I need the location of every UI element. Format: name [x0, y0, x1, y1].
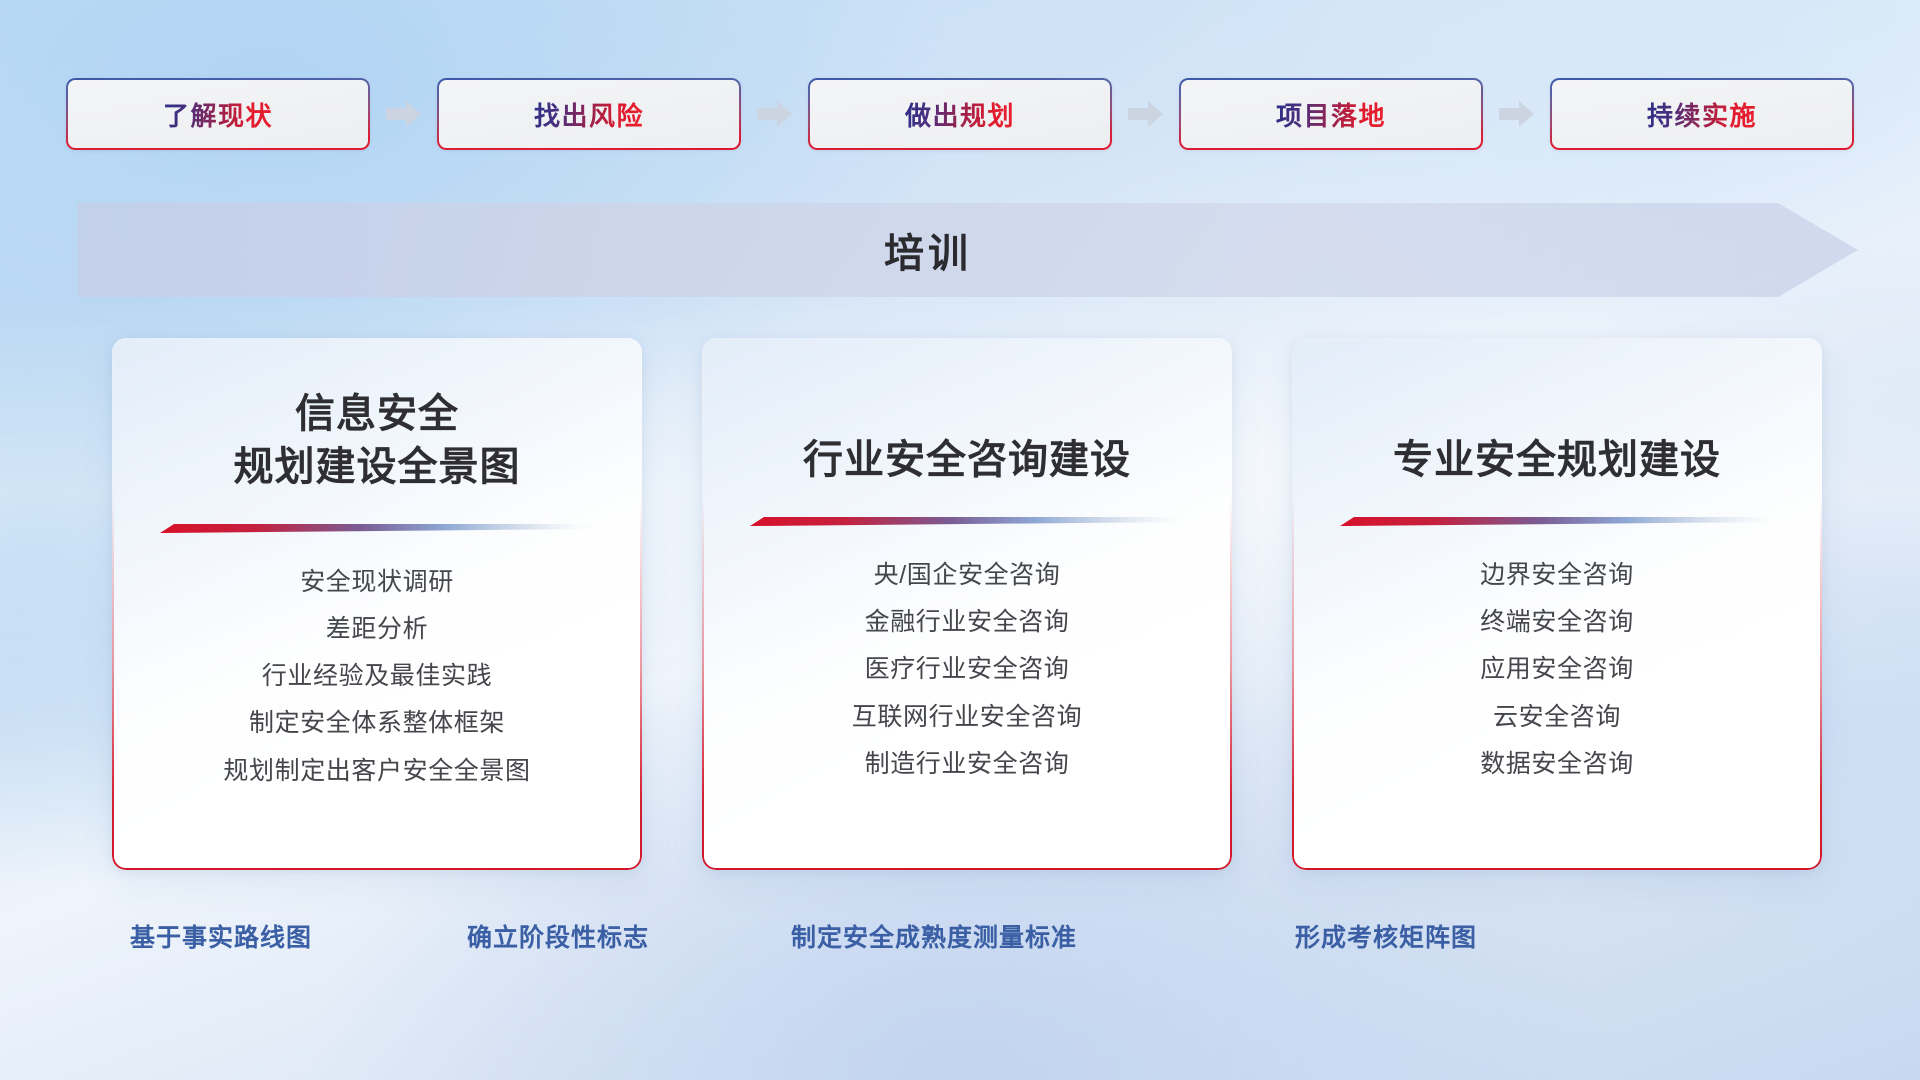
card-title: 行业安全咨询建设: [803, 434, 1131, 487]
list-item: 行业经验及最佳实践: [262, 661, 492, 692]
arrow-right-icon: [386, 99, 422, 129]
list-item: 终端安全咨询: [1480, 607, 1634, 638]
list-item: 医疗行业安全咨询: [865, 654, 1070, 685]
arrow-right-icon: [1499, 99, 1535, 129]
list-item: 安全现状调研: [300, 567, 454, 598]
step-label: 项目落地: [1276, 96, 1386, 133]
caption-maturity: 制定安全成熟度测量标准: [791, 918, 1077, 954]
step-label: 做出规划: [905, 96, 1015, 133]
card-information-security-blueprint[interactable]: 信息安全 规划建设全景图: [112, 338, 642, 870]
list-item: 应用安全咨询: [1480, 654, 1634, 685]
gradient-underline-icon: [1340, 515, 1774, 526]
step-box-2[interactable]: 找出风险: [437, 78, 741, 150]
step-box-4[interactable]: 项目落地: [1179, 78, 1483, 150]
gradient-underline-icon: [750, 515, 1184, 526]
list-item: 云安全咨询: [1493, 702, 1621, 733]
arrow-right-icon: [757, 99, 793, 129]
list-item: 规划制定出客户安全全景图: [223, 756, 530, 787]
arrow-right-icon: [1128, 99, 1164, 129]
step-box-1[interactable]: 了解现状: [66, 78, 370, 150]
card-item-list: 边界安全咨询 终端安全咨询 应用安全咨询 云安全咨询 数据安全咨询: [1318, 560, 1796, 780]
process-steps: 了解现状 找出风险 做出规划 项目落地: [66, 78, 1854, 150]
list-item: 金融行业安全咨询: [865, 607, 1070, 638]
list-item: 边界安全咨询: [1480, 560, 1634, 591]
card-item-list: 安全现状调研 差距分析 行业经验及最佳实践 制定安全体系整体框架 规划制定出客户…: [138, 567, 616, 787]
card-professional-security-planning[interactable]: 专业安全规划建设: [1292, 338, 1822, 870]
slide-root: 了解现状 找出风险 做出规划 项目落地: [0, 0, 1920, 1080]
card-industry-security-consulting[interactable]: 行业安全咨询建设: [702, 338, 1232, 870]
step-label: 持续实施: [1647, 96, 1757, 133]
caption-matrix: 形成考核矩阵图: [1295, 918, 1477, 954]
step-label: 找出风险: [534, 96, 644, 133]
step-box-3[interactable]: 做出规划: [808, 78, 1112, 150]
card-title: 专业安全规划建设: [1393, 434, 1721, 487]
list-item: 差距分析: [326, 614, 428, 645]
card-title: 信息安全 规划建设全景图: [234, 388, 521, 494]
caption-milestones: 确立阶段性标志: [467, 918, 649, 954]
list-item: 制定安全体系整体框架: [249, 708, 505, 739]
step-label: 了解现状: [163, 96, 273, 133]
list-item: 数据安全咨询: [1480, 749, 1634, 780]
banner-title: 培训: [78, 203, 1778, 297]
list-item: 互联网行业安全咨询: [852, 702, 1082, 733]
card-item-list: 央/国企安全咨询 金融行业安全咨询 医疗行业安全咨询 互联网行业安全咨询 制造行…: [728, 560, 1206, 780]
step-box-5[interactable]: 持续实施: [1550, 78, 1854, 150]
list-item: 央/国企安全咨询: [874, 560, 1061, 591]
gradient-underline-icon: [160, 522, 594, 533]
card-row: 信息安全 规划建设全景图: [112, 338, 1822, 870]
caption-roadmap: 基于事实路线图: [130, 918, 312, 954]
caption-row: 基于事实路线图 确立阶段性标志 制定安全成熟度测量标准 形成考核矩阵图: [0, 918, 1920, 962]
list-item: 制造行业安全咨询: [865, 749, 1070, 780]
training-banner: 培训: [78, 203, 1858, 297]
